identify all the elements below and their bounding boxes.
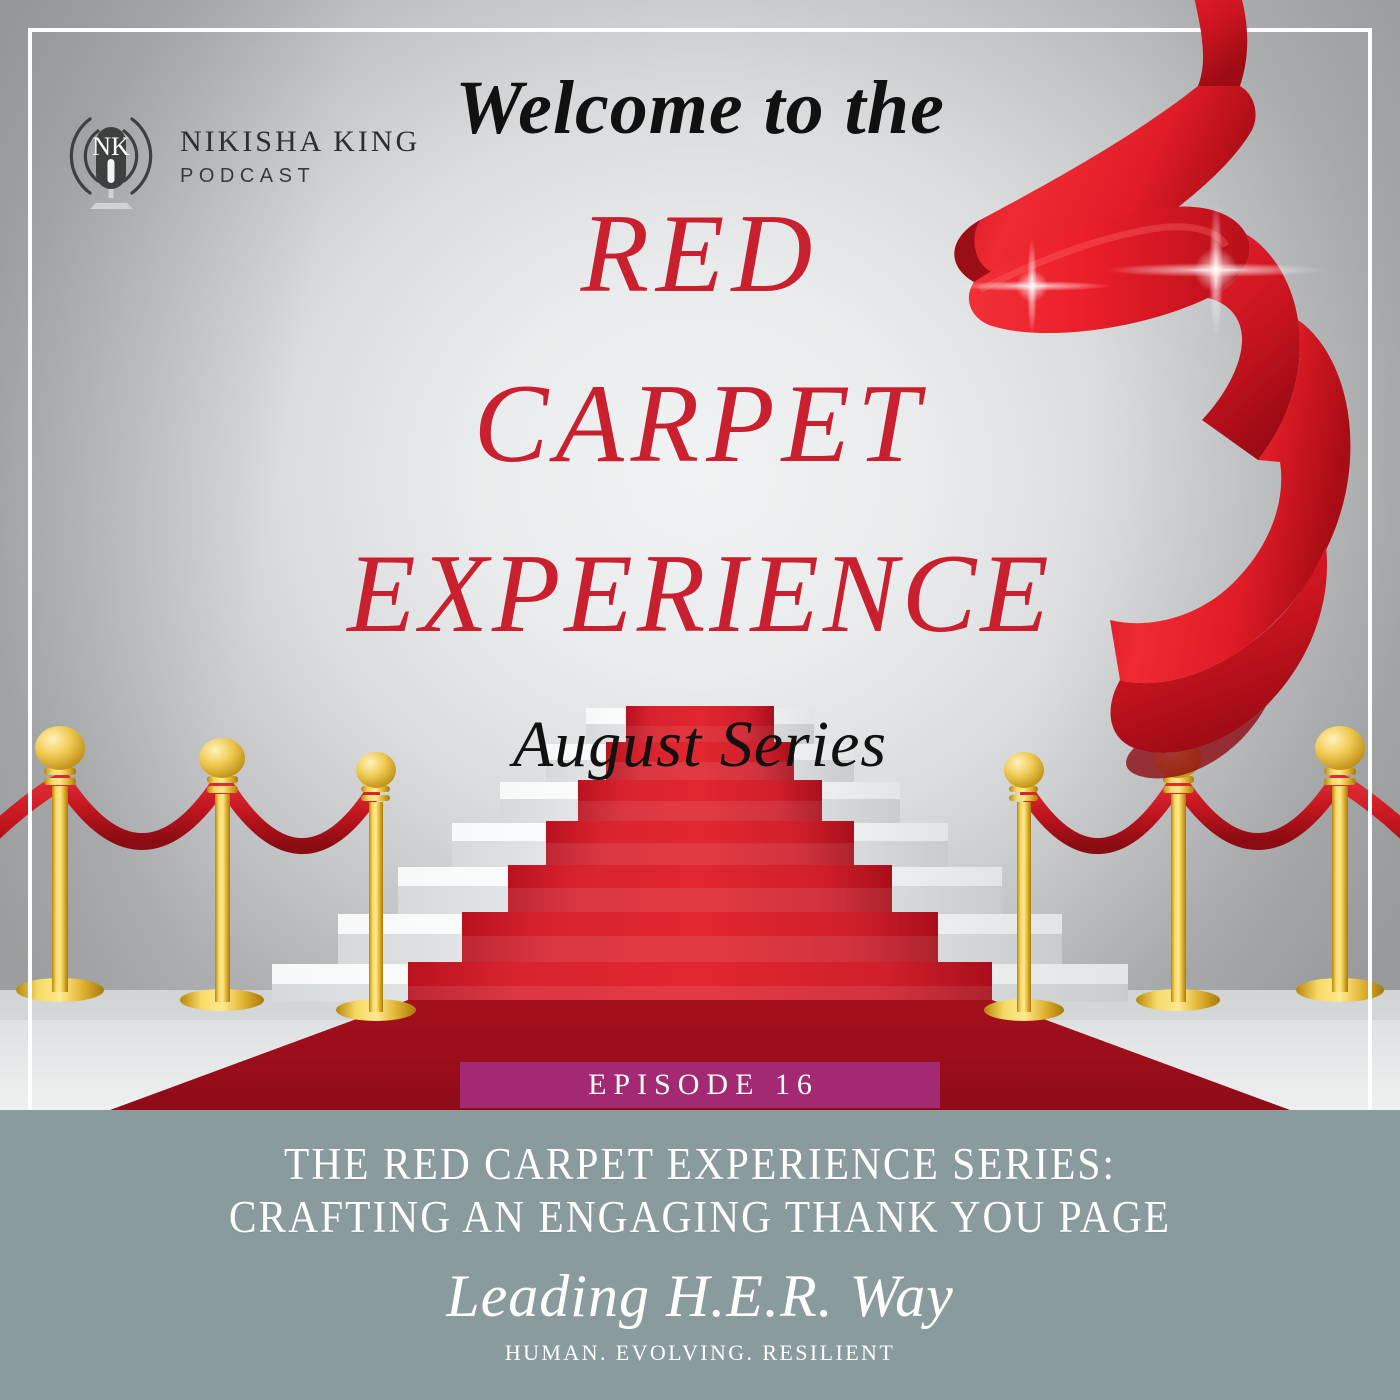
brand-tagline: HUMAN. EVOLVING. RESILIENT (505, 1340, 895, 1366)
podcast-cover-art: NK NIKISHA KING PODCAST Welcome to the R… (0, 0, 1400, 1400)
logo-monogram: NK (92, 132, 130, 161)
logo-brand-name: NIKISHA KING (180, 127, 420, 157)
episode-label: EPISODE 16 (581, 1068, 819, 1102)
red-carpet-runner (110, 706, 1290, 1110)
episode-title-line2: CRAFTING AN ENGAGING THANK YOU PAGE (108, 1191, 1293, 1244)
episode-title-line1: THE RED CARPET EXPERIENCE SERIES: (284, 1139, 1116, 1189)
red-carpet-stage (0, 690, 1400, 1110)
brand-script-wordmark: Leading H.E.R. Way (446, 1266, 953, 1326)
episode-title: THE RED CARPET EXPERIENCE SERIES: CRAFTI… (108, 1138, 1293, 1244)
logo-brand-subtitle: PODCAST (180, 166, 420, 186)
podcast-microphone-icon: NK (52, 97, 170, 215)
bottom-banner: THE RED CARPET EXPERIENCE SERIES: CRAFTI… (0, 1110, 1400, 1400)
episode-badge: EPISODE 16 (460, 1062, 940, 1108)
brand-logo: NK NIKISHA KING PODCAST (52, 96, 382, 216)
